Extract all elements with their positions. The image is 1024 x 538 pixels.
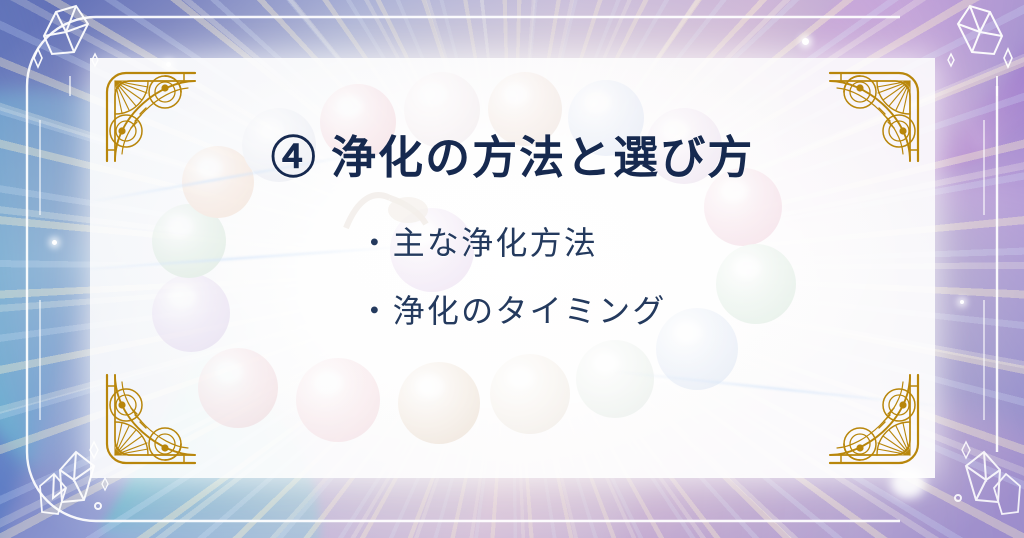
content-panel: ④ 浄化の方法と選び方 ・主な浄化方法 ・浄化のタイミング — [90, 58, 935, 478]
bullet-item-1: ・主な浄化方法 — [358, 227, 598, 259]
slide-title: ④ 浄化の方法と選び方 — [271, 136, 755, 181]
bullet-marker: ・ — [358, 293, 392, 329]
slide-content: ④ 浄化の方法と選び方 ・主な浄化方法 ・浄化のタイミング — [90, 58, 935, 478]
crystal-icon-bottom-right — [955, 442, 1020, 514]
bullet-item-2: ・浄化のタイミング — [358, 295, 666, 327]
bullet-list: ・主な浄化方法 ・浄化のタイミング — [358, 227, 666, 327]
bullet-marker: ・ — [358, 225, 392, 261]
slide-canvas: ④ 浄化の方法と選び方 ・主な浄化方法 ・浄化のタイミング — [0, 0, 1024, 538]
bullet-text: 浄化のタイミング — [393, 293, 667, 329]
crystal-icon-top-right — [948, 6, 1012, 67]
crystal-icon-top-left — [34, 6, 98, 96]
bullet-text: 主な浄化方法 — [393, 225, 598, 261]
